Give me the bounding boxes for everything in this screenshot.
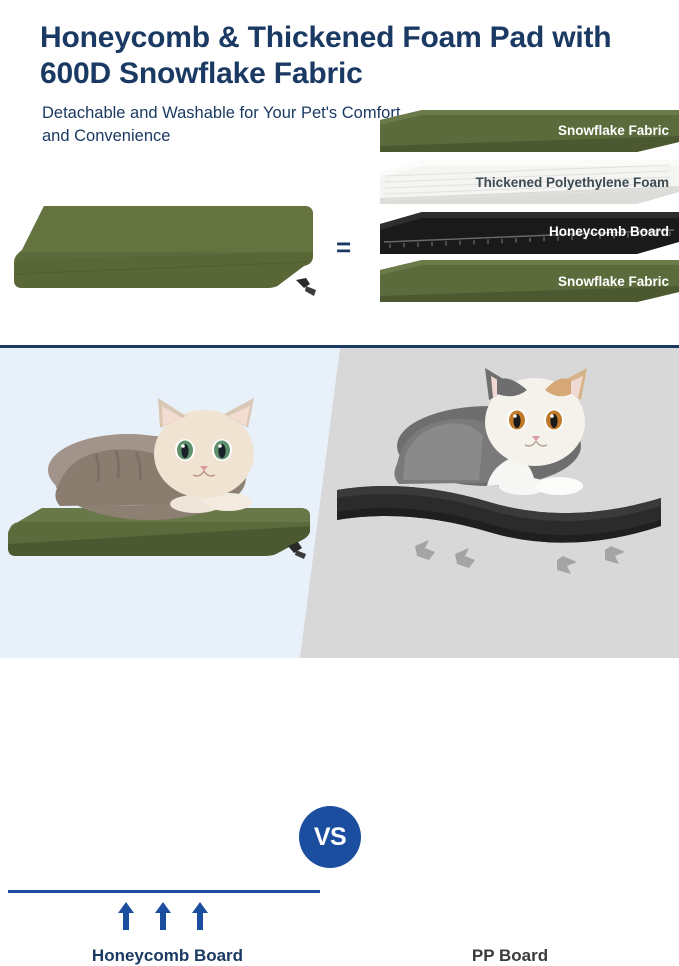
pet-pad-illustration [8,200,318,310]
layer-label-honeycomb: Honeycomb Board [549,224,669,239]
right-cat-on-pp-board [319,360,679,610]
layer-label-foam: Thickened Polyethylene Foam [475,175,669,190]
comparison-section: VS Honeycomb Board PP Board [0,348,679,658]
equals-symbol: = [336,232,351,263]
up-arrow-icon-3 [192,902,208,930]
layer-label-snowflake-top: Snowflake Fabric [558,123,669,138]
subtitle: Detachable and Washable for Your Pet's C… [42,102,402,148]
zipper-pull-icon [294,276,320,298]
layer-snowflake-fabric-top: Snowflake Fabric [380,108,679,152]
layer-snowflake-fabric-bottom: Snowflake Fabric [380,258,679,302]
vs-badge: VS [299,806,361,868]
label-honeycomb-board: Honeycomb Board [0,946,335,966]
layer-label-snowflake-bottom: Snowflake Fabric [558,274,669,289]
label-pp-board: PP Board [345,946,675,966]
material-layer-stack: Snowflake Fabric Thickened Polyethylene … [380,108,679,308]
up-arrow-icon-2 [155,902,171,930]
flat-support-line [8,890,320,893]
up-arrow-icon-1 [118,902,134,930]
left-cat-on-honeycomb-pad [0,358,330,588]
page-title: Honeycomb & Thickened Foam Pad with 600D… [40,20,665,92]
layer-thickened-foam: Thickened Polyethylene Foam [380,158,679,202]
pad-shape [8,200,318,300]
product-feature-top-section: Honeycomb & Thickened Foam Pad with 600D… [0,0,679,348]
layer-honeycomb-board: Honeycomb Board [380,210,679,254]
